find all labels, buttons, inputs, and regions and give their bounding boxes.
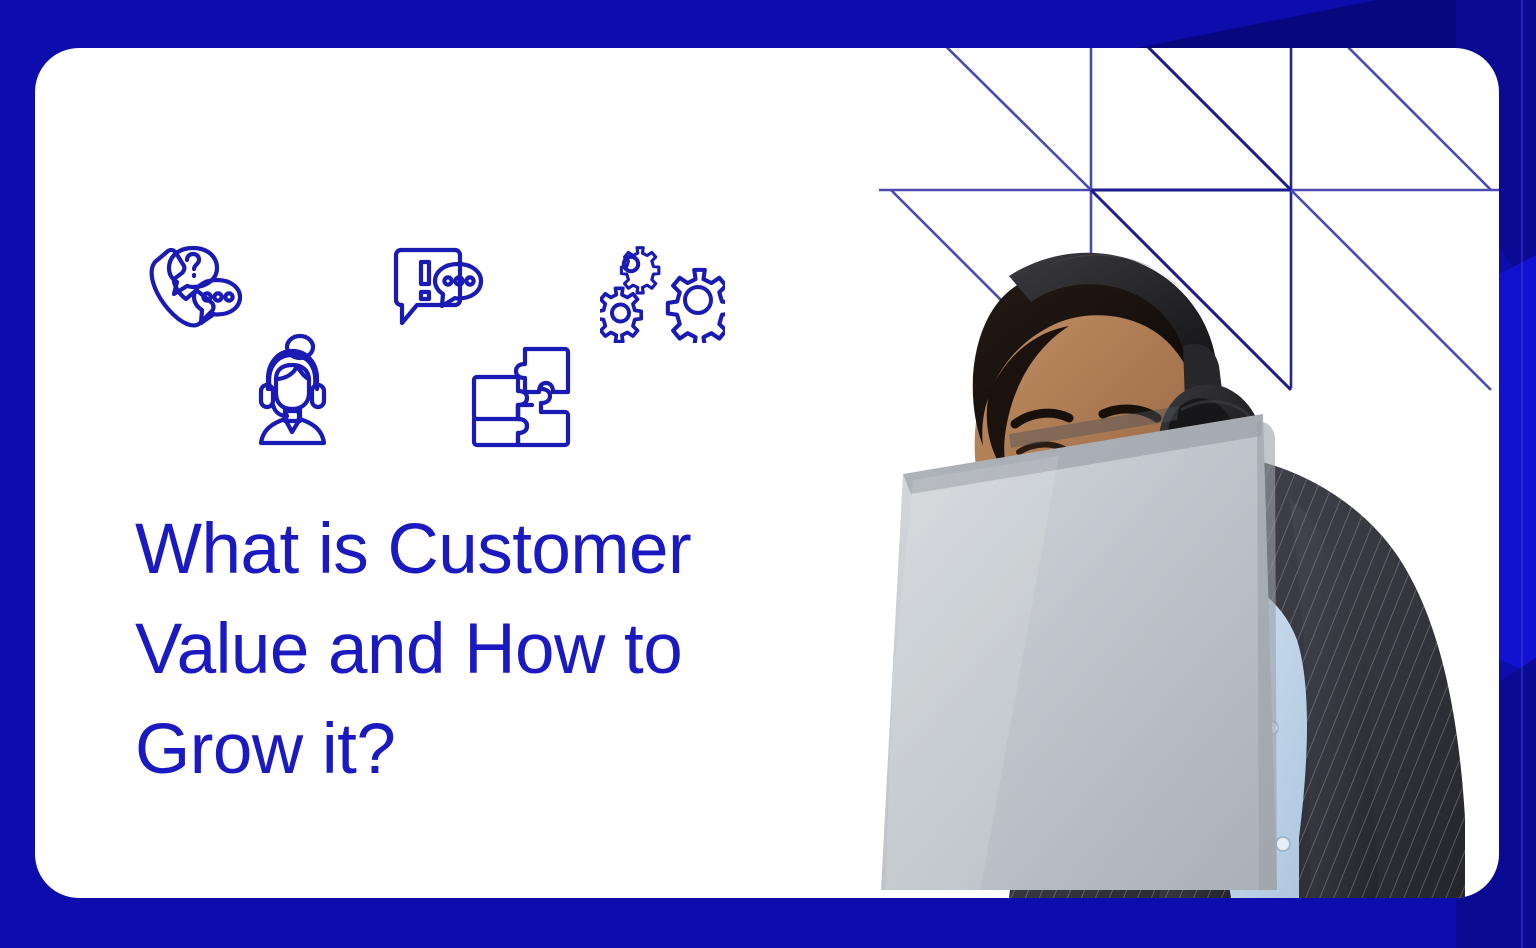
- support-agent-headset-icon: [245, 333, 340, 453]
- hero-photo: [859, 198, 1499, 898]
- phone-question-chat-icon: [135, 238, 245, 343]
- content-card: What is Customer Value and How to Grow i…: [35, 48, 1499, 898]
- background-edge-line: [1521, 0, 1523, 948]
- banner-root: What is Customer Value and How to Grow i…: [0, 0, 1536, 948]
- puzzle-pieces-icon: [470, 343, 575, 456]
- page-title: What is Customer Value and How to Grow i…: [135, 500, 795, 800]
- alert-message-chat-icon: [385, 238, 495, 343]
- icon-cluster: [135, 238, 755, 468]
- gears-icon: [600, 238, 725, 348]
